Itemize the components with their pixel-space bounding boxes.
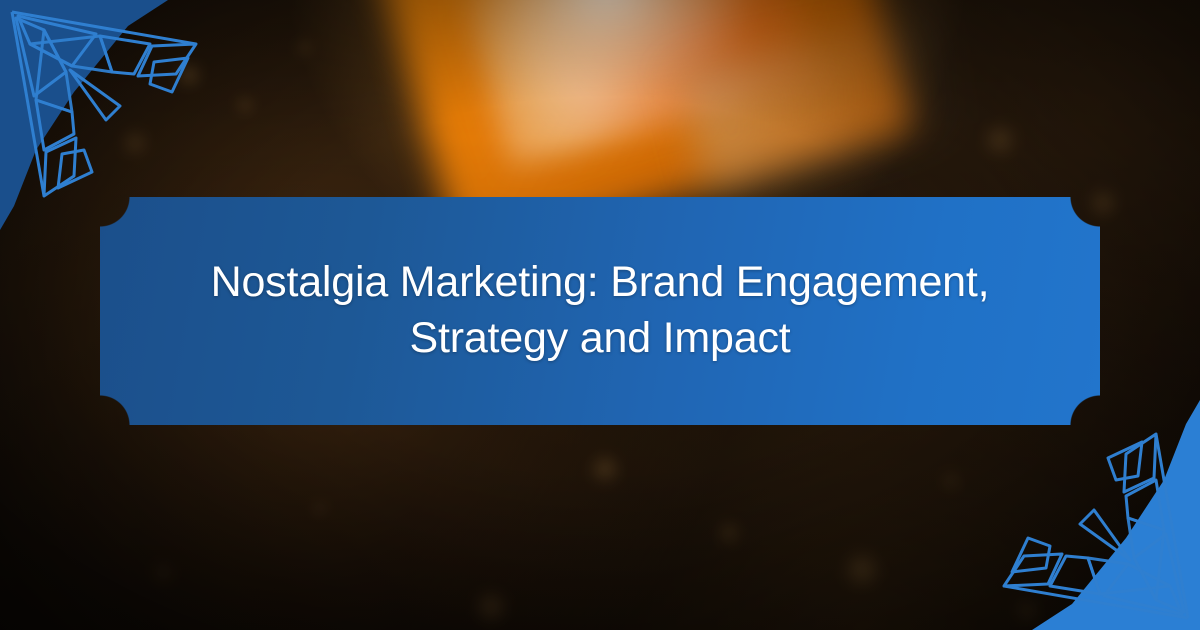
banner-canvas: Nostalgia Marketing: Brand Engagement, S… — [0, 0, 1200, 630]
title-banner: Nostalgia Marketing: Brand Engagement, S… — [100, 197, 1100, 425]
page-title: Nostalgia Marketing: Brand Engagement, S… — [190, 255, 1010, 367]
